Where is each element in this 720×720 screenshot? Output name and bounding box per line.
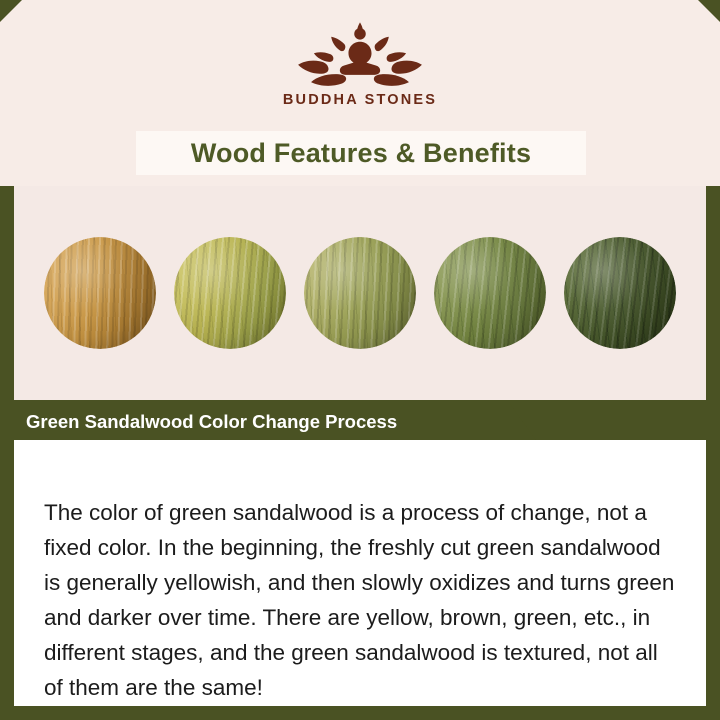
swatch-shading: [174, 237, 286, 349]
lotus-buddha-icon: [287, 18, 433, 90]
swatch-shading: [304, 237, 416, 349]
page-title-band: Wood Features & Benefits: [136, 131, 586, 175]
header-inner: BUDDHA STONES Wood Features & Benefits: [0, 0, 720, 186]
section-subtitle-bar: Green Sandalwood Color Change Process: [14, 404, 510, 440]
brand-logo: BUDDHA STONES: [0, 18, 720, 108]
color-swatch-row: [14, 186, 706, 400]
brand-name: BUDDHA STONES: [0, 92, 720, 108]
wood-swatch-stage-2: [174, 237, 286, 349]
section-subtitle: Green Sandalwood Color Change Process: [26, 411, 397, 433]
description-panel: The color of green sandalwood is a proce…: [14, 440, 706, 706]
header-area: BUDDHA STONES Wood Features & Benefits: [0, 0, 720, 186]
page-title: Wood Features & Benefits: [191, 138, 531, 169]
wood-swatch-stage-5: [564, 237, 676, 349]
swatch-shading: [564, 237, 676, 349]
swatch-shading: [44, 237, 156, 349]
color-swatch-section: [14, 186, 706, 400]
infographic-page: BUDDHA STONES Wood Features & Benefits: [0, 0, 720, 720]
wood-swatch-stage-4: [434, 237, 546, 349]
subtitle-bar-tail: [510, 404, 536, 440]
swatch-shading: [434, 237, 546, 349]
wood-swatch-stage-1: [44, 237, 156, 349]
description-paragraph: The color of green sandalwood is a proce…: [44, 495, 680, 705]
wood-swatch-stage-3: [304, 237, 416, 349]
